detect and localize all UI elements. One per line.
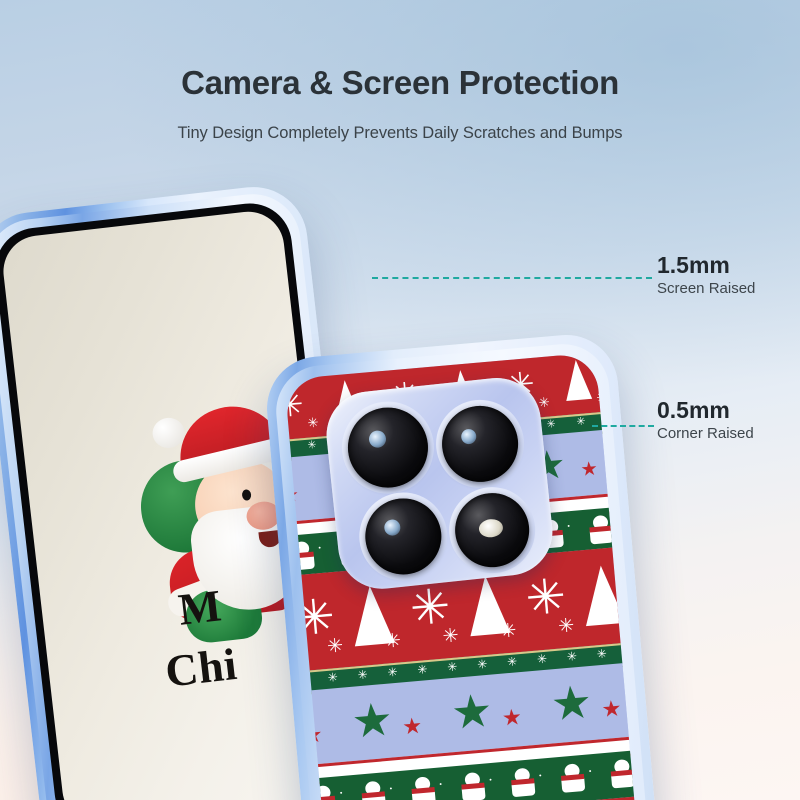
callout-label: Screen Raised xyxy=(657,280,755,299)
snowflake-icon: ✳ xyxy=(447,661,458,674)
snowflake-icon: ✳ xyxy=(357,668,368,681)
star-icon: ★ xyxy=(350,697,395,746)
snowflake-icon: ✳ xyxy=(384,632,402,653)
snowflake-icon: ✳ xyxy=(307,440,317,452)
rear-case-pattern-surface: ✳✳✳✳✳✳✳✳✳✳✳✳✳✳✳✳✳✳✳✳✳★★★★★★★•••••••✳✳✳✳✳… xyxy=(284,352,637,800)
snowflake-icon: ✳ xyxy=(417,663,428,676)
snowflake-icon: ✳ xyxy=(307,416,319,430)
snow-dot-icon: • xyxy=(389,785,392,792)
snowflake-icon: ✳ xyxy=(596,647,607,660)
callout-value: 0.5mm xyxy=(657,398,754,422)
callout-corner-raised: 0.5mm Corner Raised xyxy=(657,398,754,444)
lens-glint-3 xyxy=(384,519,402,537)
snow-dot-icon: • xyxy=(539,772,542,779)
camera-module-plateau xyxy=(322,374,557,593)
callout-label: Corner Raised xyxy=(657,425,754,444)
snowman-icon xyxy=(361,781,386,800)
product-marketing-image: Camera & Screen Protection Tiny Design C… xyxy=(0,0,800,800)
snowflake-icon: ✳ xyxy=(557,616,575,637)
star-icon: ★ xyxy=(401,715,423,739)
lens-glint-1 xyxy=(368,430,387,449)
star-icon: ★ xyxy=(580,460,599,481)
christmas-tree-icon xyxy=(563,359,592,401)
snowman-icon xyxy=(510,768,535,798)
snowflake-icon: ✳ xyxy=(326,637,344,658)
snowflake-icon: ✳ xyxy=(536,653,547,666)
lens-flash-glint xyxy=(478,518,504,538)
screen-greeting-line-1: M xyxy=(176,579,225,636)
leader-line-screen-raised xyxy=(372,277,652,279)
lens-glint-2 xyxy=(461,428,477,444)
rear-phone-back-up: ✳✳✳✳✳✳✳✳✳✳✳✳✳✳✳✳✳✳✳✳✳★★★★★★★•••••••✳✳✳✳✳… xyxy=(263,331,657,800)
snowflake-icon: ✳ xyxy=(566,650,577,663)
snowflake-icon: ✳ xyxy=(538,395,550,409)
snowflake-icon: ✳ xyxy=(507,655,518,668)
snowflake-icon: ✳ xyxy=(500,622,518,643)
leader-line-corner-raised xyxy=(592,425,654,427)
snowman-icon xyxy=(411,776,436,800)
snowflake-icon: ✳ xyxy=(387,666,398,679)
page-subtitle: Tiny Design Completely Prevents Daily Sc… xyxy=(0,124,800,143)
snow-dot-icon: • xyxy=(567,523,570,530)
page-title: Camera & Screen Protection xyxy=(0,64,800,102)
star-icon: ★ xyxy=(549,679,594,728)
star-icon: ★ xyxy=(501,706,523,730)
callout-value: 1.5mm xyxy=(657,253,755,277)
snowflake-icon: ✳ xyxy=(576,416,586,428)
star-icon: ★ xyxy=(601,697,623,721)
screen-greeting-line-2: Chi xyxy=(163,638,240,698)
snow-dot-icon: • xyxy=(489,777,492,784)
snowflake-icon: ✳ xyxy=(327,671,338,684)
snowflake-icon: ✳ xyxy=(284,387,304,422)
snow-dot-icon: • xyxy=(439,781,442,788)
snowman-icon xyxy=(461,772,486,800)
snow-dot-icon: • xyxy=(318,545,321,552)
snow-dot-icon: • xyxy=(589,768,592,775)
callout-screen-raised: 1.5mm Screen Raised xyxy=(657,253,755,299)
snowflake-icon: ✳ xyxy=(442,627,460,648)
snow-dot-icon: • xyxy=(340,790,343,797)
star-icon: ★ xyxy=(449,688,494,737)
snowflake-icon: ✳ xyxy=(546,419,556,431)
snowflake-icon: ✳ xyxy=(477,658,488,671)
snowman-icon xyxy=(560,763,585,793)
